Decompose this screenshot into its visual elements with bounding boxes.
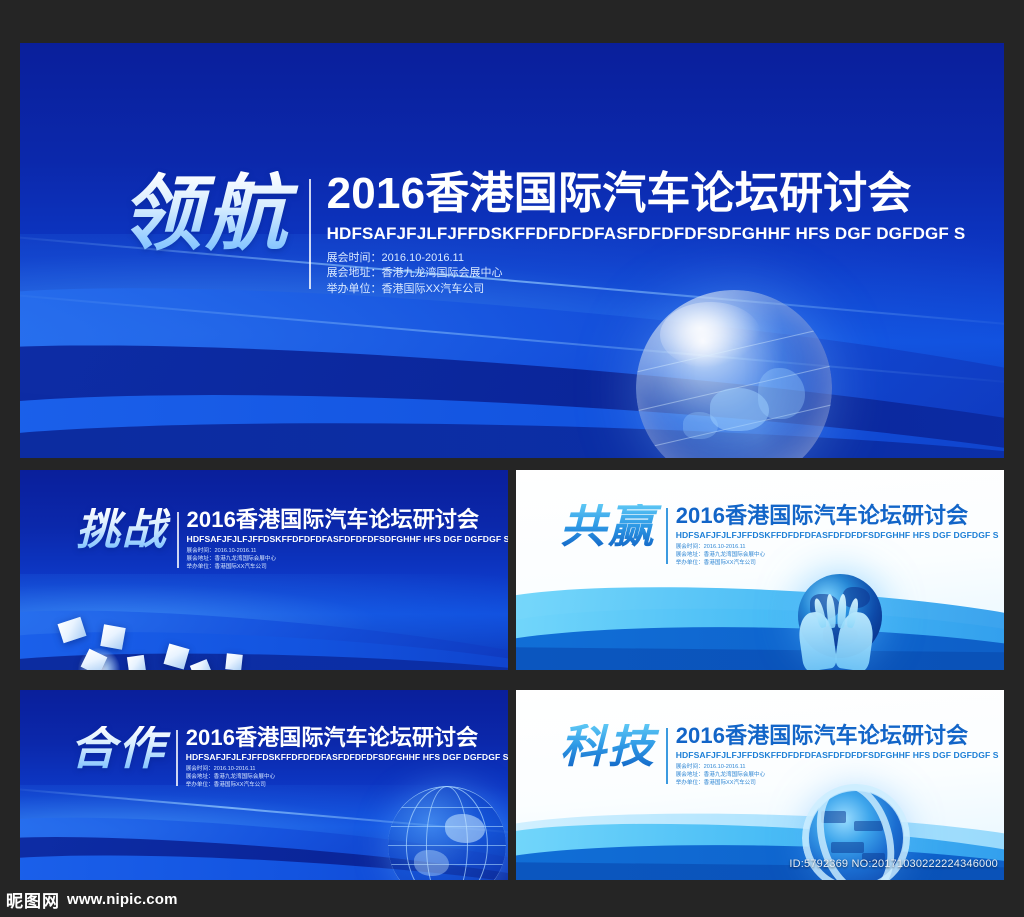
winwin-subline: HDFSAFJFJLFJFFDSKFFDFDFDFASFDFDFDFSDFGHH… [676,530,999,540]
cooperation-calligraphy: 合作 [70,726,176,770]
winwin-meta-3: 举办单位：香港国际XX汽车公司 [676,560,999,568]
globe-highlight [660,302,762,369]
banner-win-win[interactable]: 共赢 2016香港国际汽车论坛研讨会 HDFSAFJFJLFJFFDSKFFDF… [516,470,1004,670]
winwin-calligraphy: 共赢 [560,504,666,548]
challenge-meta-2: 展会地址：香港九龙湾国际会展中心 [187,556,508,564]
technology-divider [666,728,668,784]
globe-landmass [445,814,485,842]
cooperation-meta-2: 展会地址：香港九龙湾国际会展中心 [186,774,508,782]
cooperation-subline: HDFSAFJFJLFJFFDSKFFDFDFDFASFDFDFDFSDFGHH… [186,752,508,762]
challenge-calligraphy: 挑战 [76,508,177,550]
banner-cooperation[interactable]: 合作 2016香港国际汽车论坛研讨会 HDFSAFJFJLFJFFDSKFFDF… [20,690,508,880]
challenge-meta-3: 举办单位：香港国际XX汽车公司 [187,564,508,572]
technology-meta-3: 举办单位：香港国际XX汽车公司 [676,780,999,788]
challenge-divider [177,512,179,568]
cooperation-headline: 2016香港国际汽车论坛研讨会 [186,726,508,749]
nipic-logo: 昵图网 [6,887,60,912]
hero-meta-3: 举办单位：香港国际XX汽车公司 [327,282,966,298]
winwin-divider [666,508,668,564]
hero-meta-2: 展会地址：香港九龙湾国际会展中心 [327,266,966,282]
hero-main-column: 2016香港国际汽车论坛研讨会 HDFSAFJFJLFJFFDSKFFDFDFD… [327,171,966,297]
hero-text-block: 领航 2016香港国际汽车论坛研讨会 HDFSAFJFJLFJFFDSKFFDF… [120,171,965,297]
technology-text-block: 科技 2016香港国际汽车论坛研讨会 HDFSAFJFJLFJFFDSKFFDF… [560,724,999,788]
challenge-subline: HDFSAFJFJLFJFFDSKFFDFDFDFASFDFDFDFSDFGHH… [187,534,508,544]
technology-subline: HDFSAFJFJLFJFFDSKFFDFDFDFASFDFDFDFSDFGHH… [676,750,999,760]
cooperation-text-block: 合作 2016香港国际汽车论坛研讨会 HDFSAFJFJLFJFFDSKFFDF… [70,726,508,790]
technology-calligraphy: 科技 [560,724,666,768]
globe-parallel [388,845,506,846]
hero-meta-1: 展会时间：2016.10-2016.11 [327,251,966,267]
winwin-headline: 2016香港国际汽车论坛研讨会 [676,504,999,527]
winwin-meta-2: 展会地址：香港九龙湾国际会展中心 [676,552,999,560]
cooperation-main-column: 2016香港国际汽车论坛研讨会 HDFSAFJFJLFJFFDSKFFDFDFD… [186,726,508,790]
challenge-text-block: 挑战 2016香港国际汽车论坛研讨会 HDFSAFJFJLFJFFDSKFFDF… [76,508,508,572]
footer-watermark-bar: 昵图网 www.nipic.com [0,881,1024,917]
challenge-main-column: 2016香港国际汽车论坛研讨会 HDFSAFJFJLFJFFDSKFFDFDFD… [187,508,508,572]
hero-calligraphy: 领航 [120,171,307,252]
banner-hero[interactable]: 领航 2016香港国际汽车论坛研讨会 HDFSAFJFJLFJFFDSKFFDF… [20,43,1004,458]
floating-cube [100,624,125,649]
winwin-main-column: 2016香港国际汽车论坛研讨会 HDFSAFJFJLFJFFDSKFFDFDFD… [676,504,999,568]
floating-cube [127,655,146,670]
globe-continent [758,368,805,419]
watermark-id-tag: ID:5792369 NO:20171030222224346000 [789,858,998,870]
globe-parallel [388,807,506,808]
hero-divider [309,179,311,289]
banner-challenge[interactable]: 挑战 2016香港国际汽车论坛研讨会 HDFSAFJFJLFJFFDSKFFDF… [20,470,508,670]
winwin-text-block: 共赢 2016香港国际汽车论坛研讨会 HDFSAFJFJLFJFFDSKFFDF… [560,504,999,568]
nipic-url[interactable]: www.nipic.com [67,891,178,908]
cooperation-meta-3: 举办单位：香港国际XX汽车公司 [186,782,508,790]
floating-cube [225,653,243,670]
technology-main-column: 2016香港国际汽车论坛研讨会 HDFSAFJFJLFJFFDSKFFDFDFD… [676,724,999,788]
technology-headline: 2016香港国际汽车论坛研讨会 [676,724,999,747]
banner-technology[interactable]: 科技 2016香港国际汽车论坛研讨会 HDFSAFJFJLFJFFDSKFFDF… [516,690,1004,880]
hero-subline: HDFSAFJFJLFJFFDSKFFDFDFDFASFDFDFDFSDFGHH… [327,224,966,244]
canvas-root: 领航 2016香港国际汽车论坛研讨会 HDFSAFJFJLFJFFDSKFFDF… [0,0,1024,917]
globe-continent [683,412,718,439]
cooperation-divider [176,730,178,786]
technology-meta-2: 展会地址：香港九龙湾国际会展中心 [676,772,999,780]
challenge-headline: 2016香港国际汽车论坛研讨会 [187,508,508,531]
hero-headline: 2016香港国际汽车论坛研讨会 [327,171,966,218]
